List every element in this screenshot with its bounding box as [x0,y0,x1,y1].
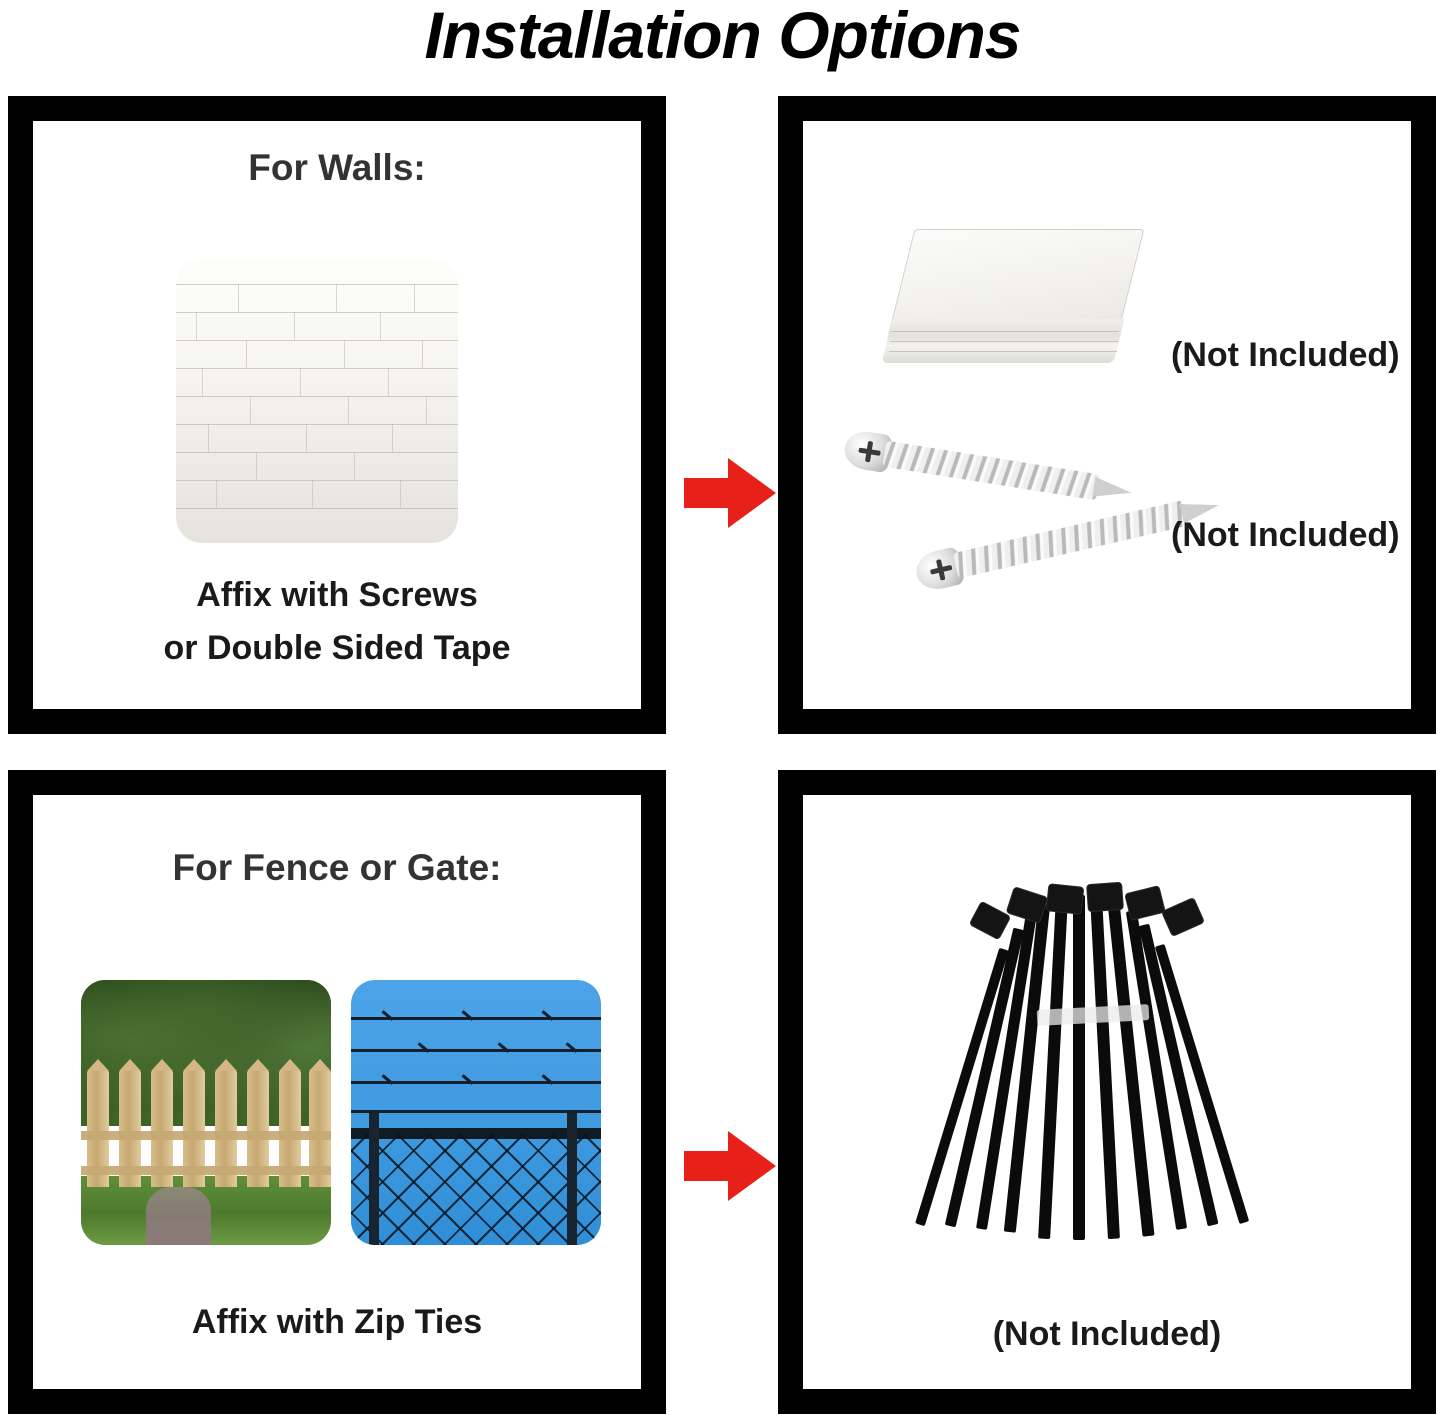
for-walls-caption-line-2: or Double Sided Tape [33,629,641,668]
panel-for-fence-or-gate-inner: For Fence or Gate: [33,795,641,1389]
red-right-arrow-icon-bottom [684,1131,776,1201]
panel-for-walls: For Walls: [8,96,666,734]
white-brick-wall-image [176,258,458,543]
for-walls-caption-line-1: Affix with Screws [33,576,641,615]
zip-ties-not-included-label: (Not Included) [803,1315,1411,1354]
red-right-arrow-icon-top [684,458,776,528]
for-fence-caption-line-1: Affix with Zip Ties [33,1303,641,1342]
panel-for-fence-or-gate: For Fence or Gate: [8,770,666,1414]
page-title: Installation Options [0,2,1445,68]
installation-options-grid: For Walls: [0,88,1445,1422]
wooden-picket-fence-image [81,980,331,1245]
panel-zip-ties: (Not Included) [778,770,1436,1414]
panel-zip-ties-inner: (Not Included) [803,795,1411,1389]
tape-not-included-label: (Not Included) [1171,336,1400,375]
for-walls-heading: For Walls: [33,147,641,189]
wood-screw-image-1 [842,429,1135,514]
panel-wall-hardware: (Not Included) (Not Included) [778,96,1436,734]
chain-link-fence-image [351,980,601,1245]
double-sided-tape-image [883,229,1143,389]
screws-not-included-label: (Not Included) [1171,516,1400,555]
panel-for-walls-inner: For Walls: [33,121,641,709]
for-fence-or-gate-heading: For Fence or Gate: [33,847,641,889]
black-zip-ties-image [851,885,1371,1285]
panel-wall-hardware-inner: (Not Included) (Not Included) [803,121,1411,709]
